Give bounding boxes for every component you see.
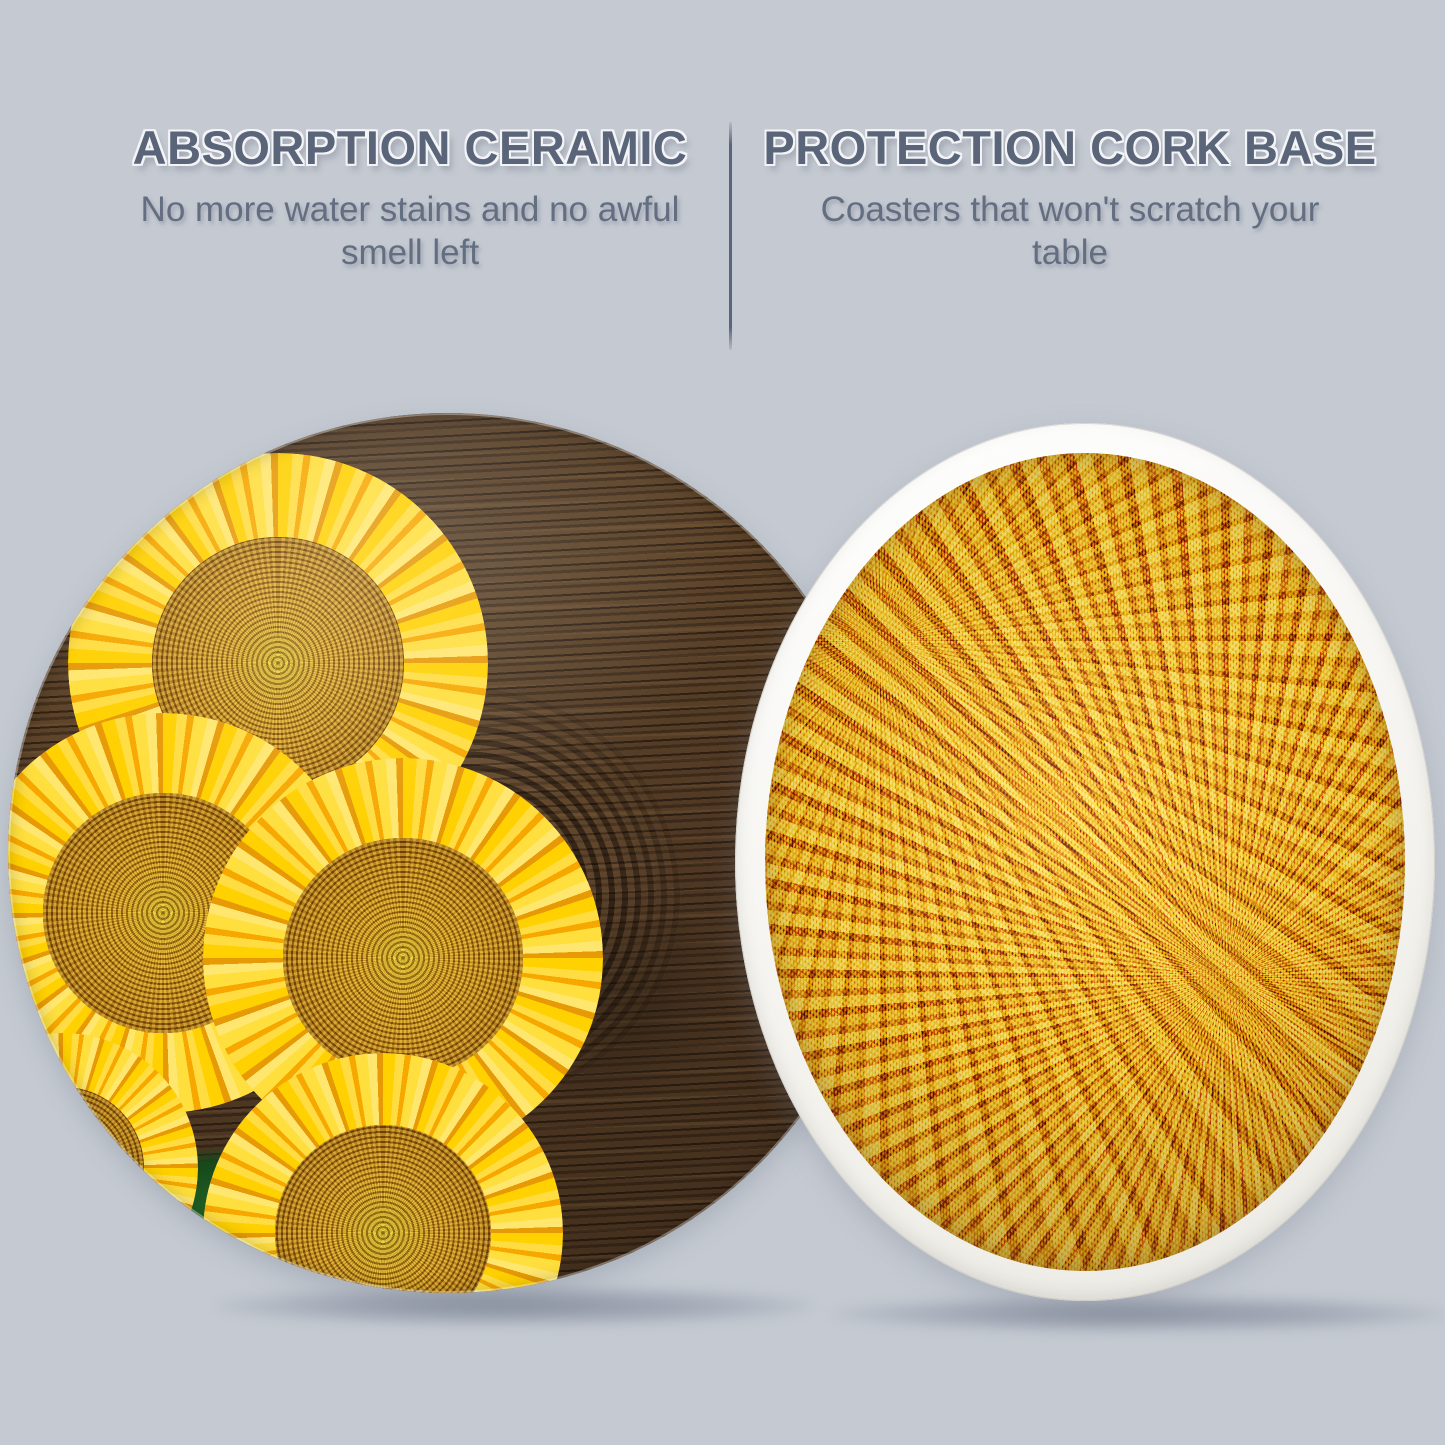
sunflower-disc	[275, 1125, 491, 1293]
coaster-back-shadow	[830, 1296, 1445, 1332]
product-feature-image: ABSORPTION CERAMIC No more water stains …	[0, 0, 1445, 1445]
coaster-back-cork-base	[735, 423, 1435, 1301]
cork-surface	[765, 453, 1405, 1271]
sunflower-disc	[8, 1087, 144, 1249]
sunflower-disc	[283, 838, 523, 1078]
coaster-product-photos	[0, 0, 1445, 1445]
